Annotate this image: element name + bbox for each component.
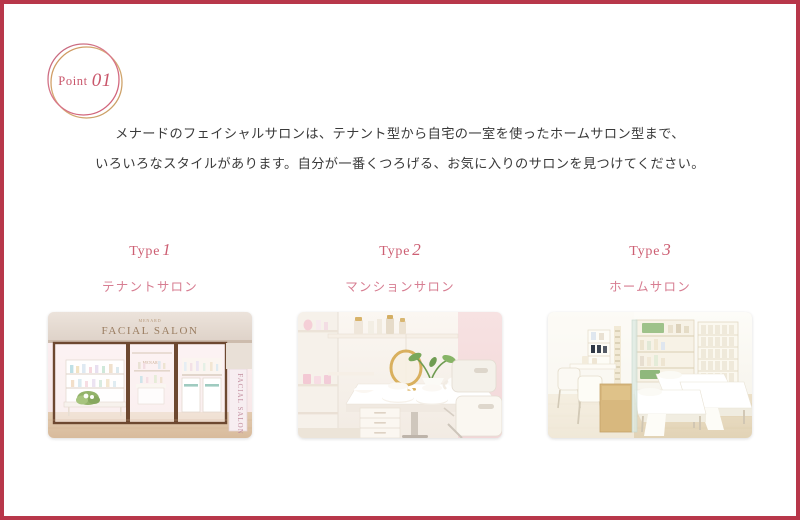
point-label: Point — [58, 74, 87, 89]
lead-line-1: メナードのフェイシャルサロンは、テナント型から自宅の一室を使ったホームサロン型ま… — [4, 120, 796, 150]
type-subtitle-2: マンションサロン — [345, 276, 455, 295]
home-salon-photo — [548, 312, 752, 438]
salon-type-item-3: Type3 ホームサロン — [548, 240, 753, 438]
tenant-salon-photo: MENARD FACIAL SALON — [48, 312, 252, 438]
type-heading-number-2: 2 — [410, 240, 421, 259]
type-heading-label-3: Type — [629, 244, 660, 259]
svg-text:FACIAL SALON: FACIAL SALON — [101, 325, 198, 337]
salon-type-list: Type1 テナントサロン — [4, 240, 796, 438]
home-salon-illustration — [548, 312, 752, 438]
point-number: 01 — [92, 70, 112, 92]
svg-text:MENARD: MENARD — [139, 318, 162, 323]
type-heading-number-1: 1 — [160, 240, 171, 259]
type-subtitle-3: ホームサロン — [609, 276, 691, 295]
type-heading-3: Type3 — [629, 240, 671, 260]
tenant-salon-illustration: MENARD FACIAL SALON — [48, 312, 252, 438]
type-heading-label-2: Type — [379, 244, 410, 259]
salon-type-item-1: Type1 テナントサロン — [48, 240, 253, 438]
type-heading-number-3: 3 — [660, 240, 671, 259]
type-heading-2: Type2 — [379, 240, 421, 260]
lead-line-2: いろいろなスタイルがあります。自分が一番くつろげる、お気に入りのサロンを見つけて… — [4, 150, 796, 180]
page-root: Point 01 メナードのフェイシャルサロンは、テナント型から自宅の一室を使っ… — [0, 0, 800, 520]
type-heading-1: Type1 — [129, 240, 171, 260]
type-heading-label-1: Type — [129, 244, 160, 259]
type-subtitle-1: テナントサロン — [102, 276, 198, 295]
salon-type-item-2: Type2 マンションサロン — [298, 240, 503, 438]
point-badge: Point 01 — [44, 40, 126, 122]
lead-paragraph: メナードのフェイシャルサロンは、テナント型から自宅の一室を使ったホームサロン型ま… — [4, 120, 796, 180]
mansion-salon-photo — [298, 312, 502, 438]
point-badge-text: Point 01 — [44, 40, 126, 122]
mansion-salon-illustration — [298, 312, 502, 438]
svg-text:FACIAL SALON: FACIAL SALON — [236, 373, 244, 435]
